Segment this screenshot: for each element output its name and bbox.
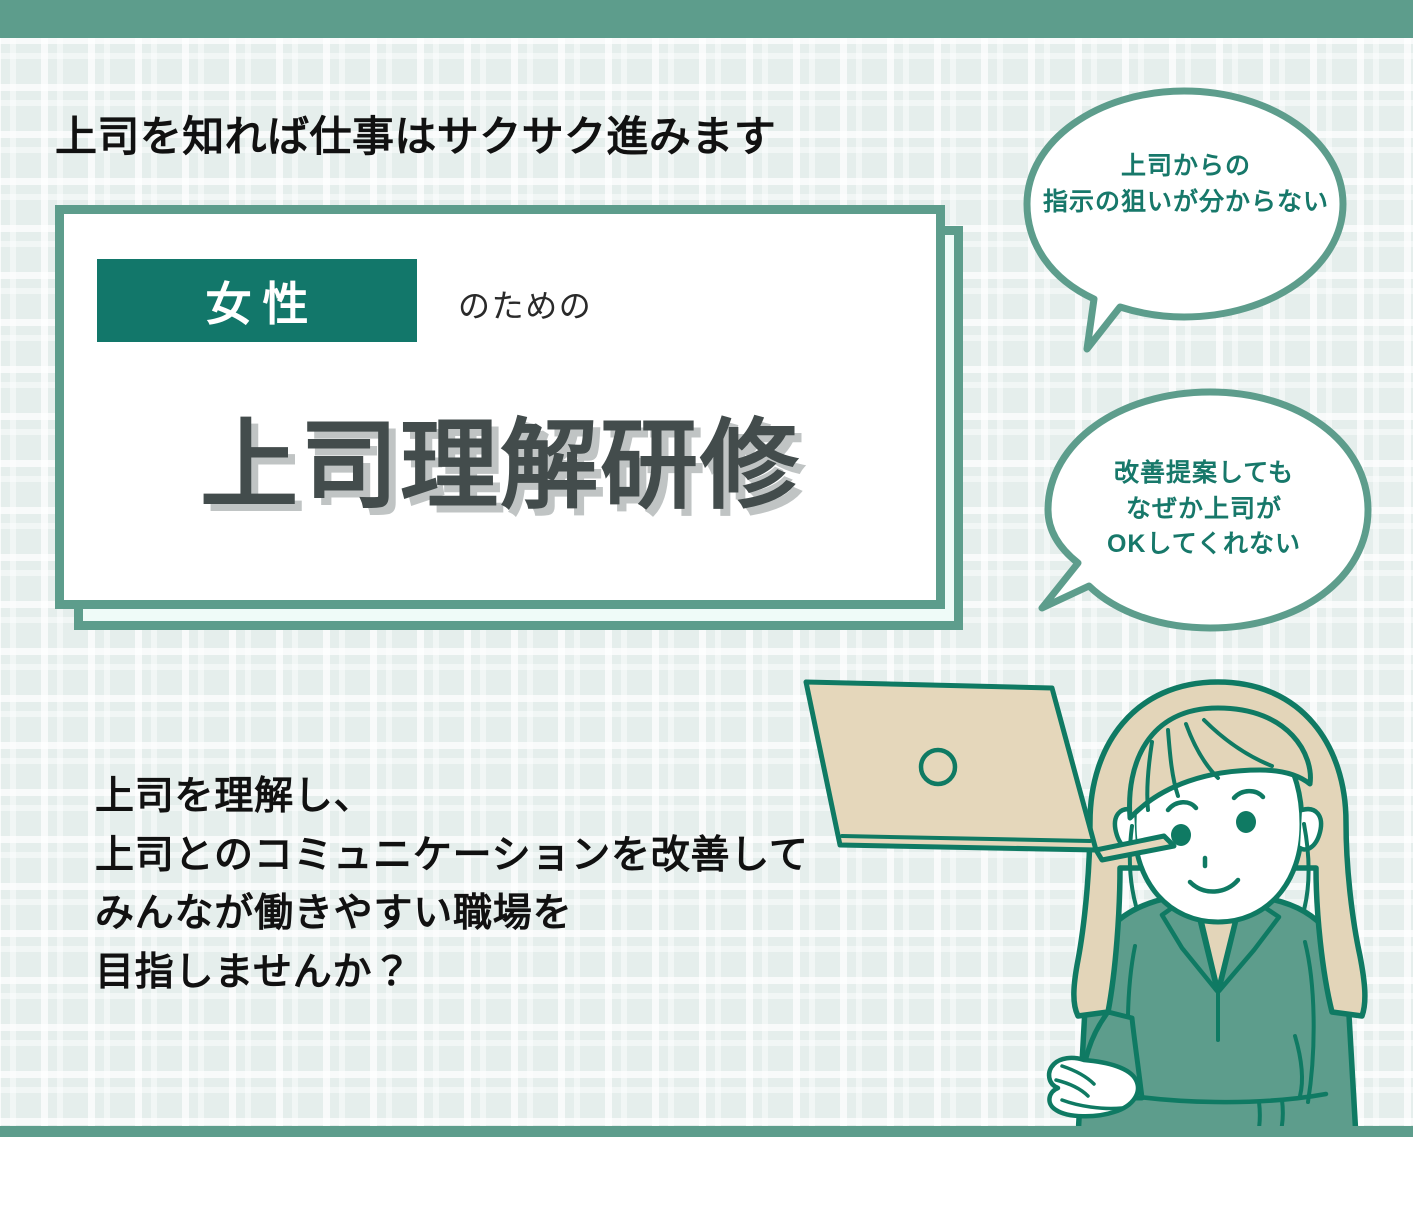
title-card: 女性 のための 上司理解研修 — [55, 205, 945, 609]
main-title: 上司理解研修 — [64, 386, 936, 528]
bubble-2-text: 改善提案しても なぜか上司が OKしてくれない — [1034, 456, 1374, 563]
bubble-2-line-1: 改善提案しても — [1034, 456, 1374, 492]
audience-badge: 女性 — [97, 259, 417, 342]
speech-bubble-concern-2: 改善提案しても なぜか上司が OKしてくれない — [1034, 386, 1374, 651]
bubble-2-line-2: なぜか上司が — [1034, 492, 1374, 528]
body-copy-line-4: 目指しませんか？ — [95, 944, 809, 1003]
headline: 上司を知れば仕事はサクサク進みます — [55, 103, 776, 164]
speech-bubble-concern-1: 上司からの 指示の狙いが分からない — [1021, 85, 1351, 355]
body-copy-line-3: みんなが働きやすい職場を — [95, 885, 809, 944]
body-copy-line-1: 上司を理解し、 — [95, 768, 809, 827]
woman-eye-right — [1236, 811, 1256, 833]
woman-at-laptop-illustration — [790, 660, 1413, 1190]
top-accent-bar — [0, 0, 1413, 38]
body-copy: 上司を理解し、 上司とのコミュニケーションを改善して みんなが働きやすい職場を … — [95, 768, 809, 1002]
bubble-1-line-1: 上司からの — [1021, 149, 1351, 185]
bubble-2-line-3: OKしてくれない — [1034, 527, 1374, 563]
poster-root: 上司を知れば仕事はサクサク進みます 女性 のための 上司理解研修 上司からの 指… — [0, 0, 1413, 1230]
bubble-outline-shape — [1027, 91, 1343, 349]
audience-badge-label: 女性 — [194, 268, 319, 334]
bubble-1-text: 上司からの 指示の狙いが分からない — [1021, 149, 1351, 220]
bubble-1-line-2: 指示の狙いが分からない — [1021, 185, 1351, 221]
body-copy-line-2: 上司とのコミュニケーションを改善して — [95, 827, 809, 886]
for-label: のための — [458, 281, 592, 327]
laptop-lid — [806, 682, 1096, 850]
bottom-accent-bar — [0, 1126, 1413, 1137]
